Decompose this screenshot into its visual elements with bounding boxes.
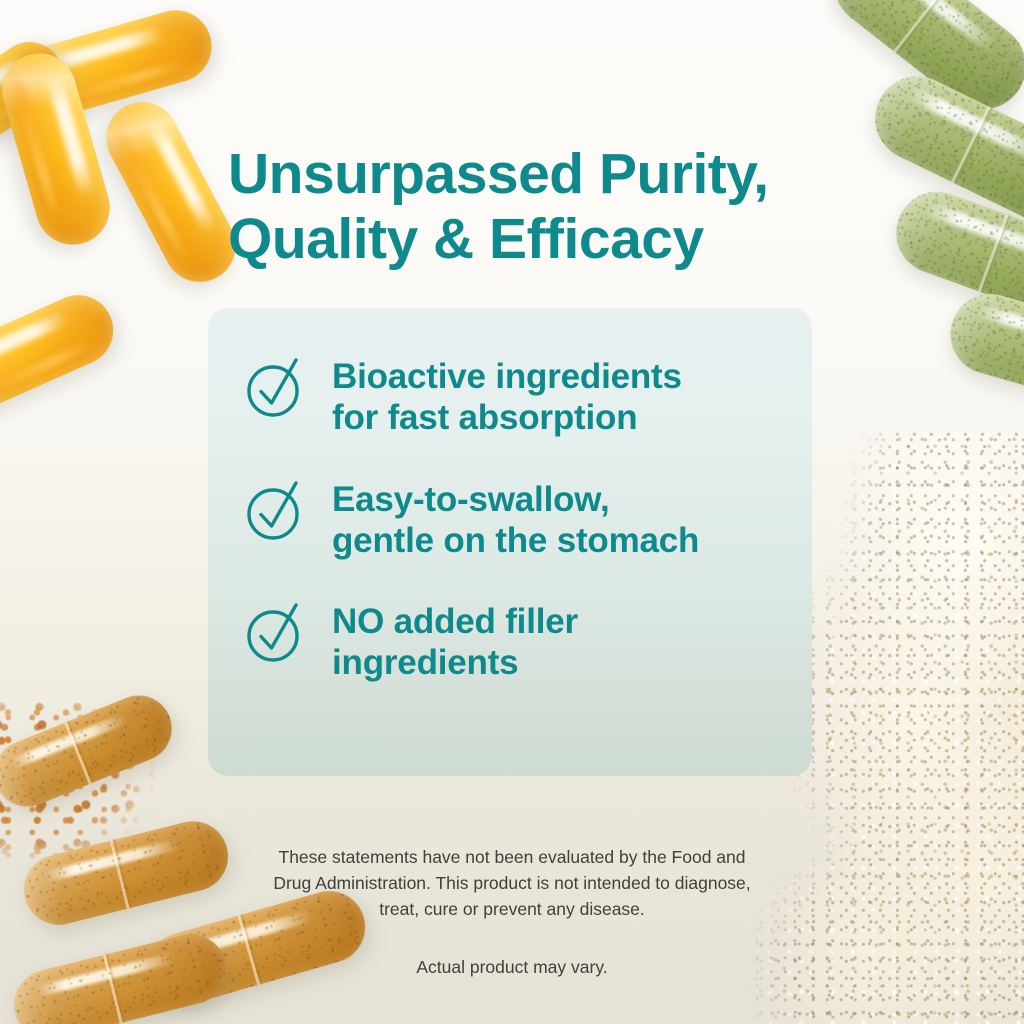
product-variance-text: Actual product may vary.: [202, 955, 822, 981]
turmeric-capsule: [7, 927, 234, 1024]
benefit-item: Bioactive ingredients for fast absorptio…: [244, 354, 786, 439]
capsule-powder-texture: [861, 62, 1024, 237]
turmeric-powder-spill: [0, 700, 190, 890]
benefit-card: Bioactive ingredients for fast absorptio…: [208, 308, 812, 776]
promo-banner: Unsurpassed Purity, Quality & Efficacy B…: [0, 0, 1024, 1024]
turmeric-capsule: [0, 686, 182, 817]
capsule-powder-texture: [0, 686, 182, 817]
softgel-capsule: [8, 2, 220, 126]
page-title: Unsurpassed Purity, Quality & Efficacy: [228, 142, 828, 272]
capsule-powder-texture: [941, 285, 1024, 420]
green-capsule: [817, 0, 1024, 127]
softgel-capsule: [0, 29, 75, 156]
green-capsule: [885, 180, 1024, 334]
benefit-text: NO added filler ingredients: [332, 599, 578, 684]
softgel-capsule: [0, 45, 119, 254]
disclaimer: These statements have not been evaluated…: [202, 845, 822, 981]
green-capsule: [861, 62, 1024, 237]
check-circle-icon: [244, 603, 306, 665]
check-circle-icon: [244, 358, 306, 420]
green-capsule: [941, 285, 1024, 420]
softgel-capsule: [94, 89, 249, 294]
headline-line-1: Unsurpassed Purity,: [228, 142, 769, 206]
benefit-text: Easy-to-swallow, gentle on the stomach: [332, 477, 699, 562]
fda-disclaimer-text: These statements have not been evaluated…: [202, 845, 822, 923]
check-circle-icon: [244, 481, 306, 543]
softgel-capsule: [0, 284, 124, 422]
capsule-powder-texture: [817, 0, 1024, 127]
benefit-item: NO added filler ingredients: [244, 599, 786, 684]
headline-line-2: Quality & Efficacy: [228, 207, 704, 271]
benefit-text: Bioactive ingredients for fast absorptio…: [332, 354, 682, 439]
capsule-powder-texture: [7, 927, 234, 1024]
capsule-powder-texture: [885, 180, 1024, 334]
benefit-list: Bioactive ingredients for fast absorptio…: [244, 354, 786, 684]
benefit-item: Easy-to-swallow, gentle on the stomach: [244, 477, 786, 562]
